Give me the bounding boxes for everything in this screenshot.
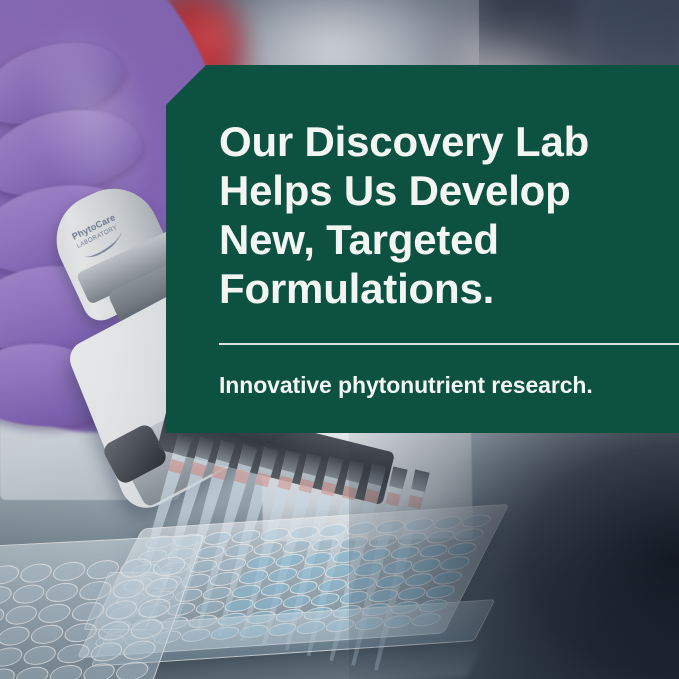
microplate-well xyxy=(222,543,256,558)
microplate-well xyxy=(36,603,74,624)
microplate-well xyxy=(84,559,122,580)
pipette-tip-band xyxy=(298,479,314,494)
microplate-well xyxy=(308,537,342,552)
microplate-well xyxy=(113,661,151,679)
microplate-well xyxy=(229,529,263,544)
microplate-well xyxy=(200,585,234,600)
microplate-well xyxy=(2,605,40,626)
microplate-well xyxy=(251,596,285,611)
microplate-well xyxy=(236,569,270,584)
microplate-well xyxy=(308,592,342,607)
pipette-tip-collar xyxy=(281,450,301,473)
microplate-well xyxy=(250,541,284,556)
microplate-well xyxy=(110,579,148,600)
horizontal-divider xyxy=(219,343,679,345)
microplate-well xyxy=(143,577,181,598)
microplate-well xyxy=(229,583,263,598)
microplate-well xyxy=(200,531,234,546)
microplate-well xyxy=(80,663,118,679)
pipette-tip-collar xyxy=(237,444,257,467)
microplate-well xyxy=(301,551,335,566)
microplate-well xyxy=(21,645,59,666)
microplate-well xyxy=(279,594,313,609)
pipette-tip-band xyxy=(168,459,184,474)
microplate-well xyxy=(193,599,227,614)
microplate-well xyxy=(279,539,313,554)
subtitle: Innovative phytonutrient research. xyxy=(219,371,679,399)
microplate-well xyxy=(76,580,114,601)
microplate-well xyxy=(315,578,349,593)
microplate-well xyxy=(54,643,92,664)
microplate-well xyxy=(207,571,241,586)
pipette-tip-band xyxy=(190,462,206,477)
headline-line: Our Discovery Lab xyxy=(219,118,589,165)
microplate-well xyxy=(0,647,25,668)
pipette-tip-band xyxy=(277,475,293,490)
microplate-well xyxy=(150,556,188,577)
pipette-tip-band xyxy=(255,472,271,487)
microplate-well xyxy=(0,565,22,586)
microplate-well xyxy=(258,582,292,597)
microplate-well xyxy=(102,600,140,621)
headline-line: Helps Us Develop xyxy=(219,167,571,214)
microplate-well xyxy=(287,580,321,595)
microplate-well xyxy=(222,598,256,613)
pipette-tip-collar xyxy=(216,440,236,463)
microplate-well xyxy=(294,566,328,581)
microplate-well xyxy=(128,619,166,640)
microplate-well xyxy=(47,664,85,679)
pipette-tip-collar xyxy=(324,457,344,480)
pipette-tip-collar xyxy=(302,453,322,476)
microplate-well xyxy=(286,525,320,540)
microplate-well xyxy=(87,642,125,663)
microplate-well xyxy=(10,584,48,605)
headline-line: Formulations. xyxy=(219,265,494,312)
microplate-well xyxy=(117,558,155,579)
headline-line: New, Targeted xyxy=(219,216,499,263)
pipette-tip-band xyxy=(233,469,249,484)
pipette-tip-band xyxy=(212,466,228,481)
pipette-tip-collar xyxy=(172,434,192,458)
green-text-panel: Our Discovery Lab Helps Us Develop New, … xyxy=(166,65,679,433)
microplate-well xyxy=(43,582,81,603)
microplate-well xyxy=(28,624,66,645)
pipette-tip-collar xyxy=(194,437,214,460)
microplate-well xyxy=(215,557,249,572)
microplate-well xyxy=(62,622,100,643)
microplate-well xyxy=(69,601,107,622)
pipette-tip-band xyxy=(320,482,336,497)
pipette-tip-collar xyxy=(259,447,279,470)
microplate-well xyxy=(13,666,51,679)
microplate-well xyxy=(121,640,159,661)
microplate-well xyxy=(272,553,306,568)
microplate-well xyxy=(50,561,88,582)
microplate-well xyxy=(243,555,277,570)
page-title: Our Discovery Lab Helps Us Develop New, … xyxy=(219,117,619,313)
microplate-well xyxy=(265,567,299,582)
microplate-well xyxy=(315,523,349,538)
microplate-well xyxy=(95,621,133,642)
microplate-well xyxy=(17,563,55,584)
microplate-well xyxy=(136,598,174,619)
microplate-well xyxy=(0,668,18,679)
microplate-well xyxy=(0,626,33,647)
microplate-well xyxy=(258,527,292,542)
promo-graphic-canvas: PhytoCare LABORATORY Our Discovery Lab H xyxy=(0,0,679,679)
secondary-well-grid xyxy=(0,556,188,679)
